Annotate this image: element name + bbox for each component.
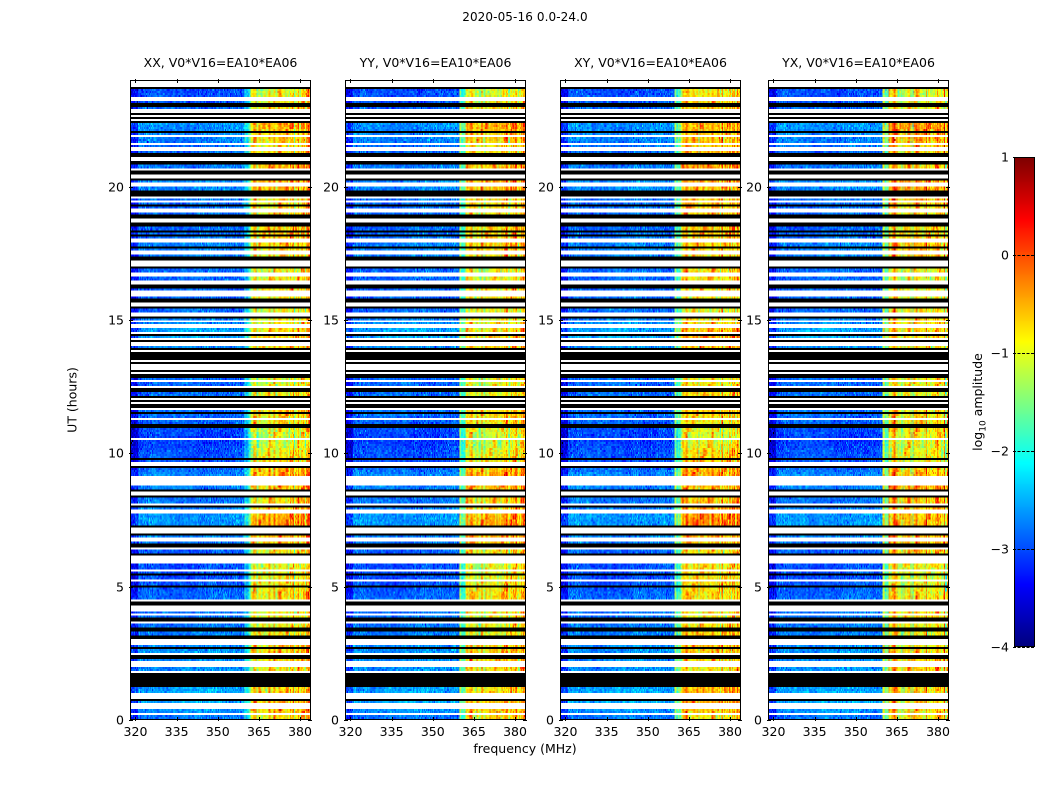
x-tick-mark [730,79,731,83]
x-tick-mark [350,79,351,83]
x-tick-mark [433,717,434,721]
x-tick-mark [565,79,566,83]
figure-title: 2020-05-16 0.0-24.0 [0,10,1050,24]
colorbar-label-tail: amplitude [970,353,985,420]
colorbar-tick-mark [1013,549,1034,550]
x-tick-label: 365 [462,724,486,739]
x-tick-mark [815,79,816,83]
panel-yx: YX, V0*V16=EA10*EA0632033535036538005101… [768,80,949,720]
y-tick-label: 5 [754,579,768,594]
y-tick-label: 10 [323,446,345,461]
colorbar-label-text: log [970,432,985,451]
x-tick-mark [515,79,516,83]
y-tick-label: 5 [116,579,130,594]
y-tick-mark [946,320,950,321]
waterfall-canvas-xx [131,81,310,719]
colorbar-tick-label: −4 [991,640,1014,655]
colorbar-label-subscript: 10 [978,420,988,431]
colorbar-tick-mark [1013,157,1034,158]
x-tick-mark [300,717,301,721]
x-tick-mark [300,79,301,83]
panel-title-yy: YY, V0*V16=EA10*EA06 [360,55,512,70]
spectrogram-figure: 2020-05-16 0.0-24.0 XX, V0*V16=EA10*EA06… [0,0,1050,800]
x-tick-mark [392,79,393,83]
y-tick-label: 0 [754,713,768,728]
colorbar-tick-label: 1 [1001,150,1014,165]
y-tick-label: 0 [331,713,345,728]
x-tick-label: 350 [636,724,660,739]
y-tick-mark [523,187,527,188]
x-tick-mark [773,79,774,83]
x-tick-label: 350 [421,724,445,739]
y-tick-mark [738,187,742,188]
panel-image-yy [345,80,526,720]
y-axis-label: UT (hours) [65,367,80,433]
panel-title-xy: XY, V0*V16=EA10*EA06 [574,55,727,70]
colorbar-tick-label: −3 [991,542,1014,557]
x-tick-mark [515,717,516,721]
y-tick-label: 15 [323,313,345,328]
x-tick-mark [135,79,136,83]
colorbar-tick-mark [1013,451,1034,452]
y-tick-label: 10 [538,446,560,461]
y-tick-mark [523,587,527,588]
y-tick-label: 20 [538,179,560,194]
y-tick-mark [308,720,312,721]
x-tick-mark [648,717,649,721]
x-tick-mark [565,717,566,721]
y-tick-label: 5 [546,579,560,594]
colorbar-gradient [1014,157,1035,647]
x-tick-label: 380 [926,724,950,739]
x-tick-mark [730,717,731,721]
y-tick-label: 20 [108,179,130,194]
y-tick-label: 0 [116,713,130,728]
panel-image-xx [130,80,311,720]
x-tick-mark [218,79,219,83]
x-tick-mark [856,717,857,721]
colorbar-tick-mark [1013,647,1034,648]
x-tick-mark [938,717,939,721]
y-tick-label: 10 [108,446,130,461]
panel-title-yx: YX, V0*V16=EA10*EA06 [782,55,935,70]
y-tick-mark [946,720,950,721]
x-tick-mark [607,717,608,721]
panel-image-yx [768,80,949,720]
x-tick-label: 335 [595,724,619,739]
colorbar-tick-label: 0 [1001,248,1014,263]
y-tick-mark [523,453,527,454]
y-tick-label: 20 [746,179,768,194]
x-tick-mark [135,717,136,721]
y-tick-mark [946,187,950,188]
x-tick-mark [259,717,260,721]
x-tick-mark [897,79,898,83]
x-tick-label: 380 [503,724,527,739]
colorbar-tick-label: −1 [991,346,1014,361]
panel-xx: XX, V0*V16=EA10*EA0632033535036538005101… [130,80,311,720]
y-tick-mark [523,320,527,321]
x-tick-mark [474,717,475,721]
x-tick-label: 350 [844,724,868,739]
waterfall-canvas-xy [561,81,740,719]
colorbar-tick-label: −2 [991,444,1014,459]
x-tick-label: 335 [803,724,827,739]
x-tick-mark [689,79,690,83]
colorbar-label: log10 amplitude [970,353,989,451]
y-tick-mark [738,720,742,721]
colorbar-tick-mark [1013,353,1034,354]
x-tick-mark [856,79,857,83]
y-tick-mark [738,320,742,321]
x-tick-mark [938,79,939,83]
y-tick-label: 15 [746,313,768,328]
x-tick-mark [815,717,816,721]
x-tick-label: 380 [718,724,742,739]
waterfall-canvas-yx [769,81,948,719]
panel-xy: XY, V0*V16=EA10*EA0632033535036538005101… [560,80,741,720]
y-tick-label: 20 [323,179,345,194]
x-axis-label: frequency (MHz) [0,741,1050,756]
x-tick-label: 365 [247,724,271,739]
waterfall-canvas-yy [346,81,525,719]
x-tick-mark [897,717,898,721]
y-tick-mark [738,453,742,454]
x-tick-mark [392,717,393,721]
y-tick-label: 0 [546,713,560,728]
x-tick-mark [177,79,178,83]
x-tick-mark [773,717,774,721]
x-tick-label: 350 [206,724,230,739]
y-tick-mark [308,187,312,188]
y-tick-mark [523,720,527,721]
x-tick-mark [607,79,608,83]
x-tick-mark [218,717,219,721]
panel-image-xy [560,80,741,720]
y-tick-label: 5 [331,579,345,594]
panel-title-xx: XX, V0*V16=EA10*EA06 [144,55,298,70]
y-tick-mark [308,453,312,454]
x-tick-label: 380 [288,724,312,739]
y-tick-mark [946,453,950,454]
x-tick-mark [350,717,351,721]
panel-yy: YY, V0*V16=EA10*EA0632033535036538005101… [345,80,526,720]
y-tick-mark [738,587,742,588]
y-tick-label: 15 [538,313,560,328]
x-tick-mark [433,79,434,83]
x-tick-label: 365 [677,724,701,739]
y-tick-mark [308,587,312,588]
x-tick-mark [648,79,649,83]
x-tick-mark [177,717,178,721]
x-tick-label: 335 [380,724,404,739]
x-tick-label: 365 [885,724,909,739]
y-tick-mark [946,587,950,588]
x-tick-label: 335 [165,724,189,739]
x-tick-mark [259,79,260,83]
x-tick-mark [474,79,475,83]
colorbar-tick-mark [1013,255,1034,256]
colorbar: 10−1−2−3−4 [1014,157,1035,647]
y-tick-mark [308,320,312,321]
y-tick-label: 10 [746,446,768,461]
x-tick-mark [689,717,690,721]
y-tick-label: 15 [108,313,130,328]
